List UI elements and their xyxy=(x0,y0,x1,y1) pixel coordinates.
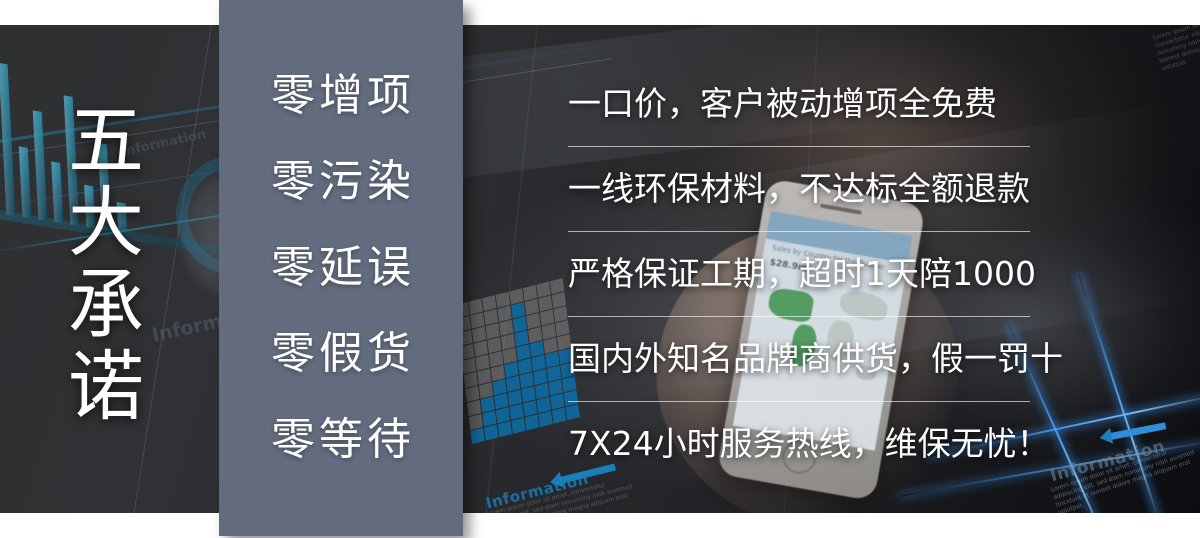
bar-6 xyxy=(51,161,63,223)
bar-3 xyxy=(0,63,15,216)
title-char-3: 承 xyxy=(68,264,160,346)
bar-5 xyxy=(33,110,48,220)
promise-text-3: 严格保证工期，超时1天陪1000 xyxy=(568,255,1036,293)
promise-row-3: 严格保证工期，超时1天陪1000 xyxy=(568,232,1038,316)
promise-text-5: 7X24小时服务热线，维保无忧！ xyxy=(568,425,1050,463)
background-waffle-chart xyxy=(455,278,581,445)
promise-list: 一口价，客户被动增项全免费 一线环保材料，不达标全额退款 严格保证工期，超时1天… xyxy=(568,62,1038,486)
promo-banner: Information Information xyxy=(0,0,1200,538)
promise-row-5: 7X24小时服务热线，维保无忧！ xyxy=(568,402,1038,486)
promise-row-1: 一口价，客户被动增项全免费 xyxy=(568,62,1038,146)
page-title-vertical: 五 大 承 诺 xyxy=(68,100,160,428)
bar-4 xyxy=(19,146,32,218)
info-paragraph-midright: Lorem ipsum dolor sit amet, consectetur … xyxy=(1152,25,1200,73)
panel-item-zero-delay: 零延误 xyxy=(267,245,415,291)
panel-item-zero-extra-charge: 零增项 xyxy=(267,73,415,119)
panel-item-zero-fake-goods: 零假货 xyxy=(267,331,415,377)
title-char-1: 五 xyxy=(68,100,160,182)
promise-text-2: 一线环保材料，不达标全额退款 xyxy=(568,170,1030,208)
panel-item-zero-pollution: 零污染 xyxy=(267,159,415,205)
panel-item-zero-waiting: 零等待 xyxy=(267,417,415,463)
promise-row-4: 国内外知名品牌商供货，假一罚十 xyxy=(568,317,1038,401)
promise-text-4: 国内外知名品牌商供货，假一罚十 xyxy=(568,340,1063,378)
promise-row-2: 一线环保材料，不达标全额退款 xyxy=(568,147,1038,231)
promise-text-1: 一口价，客户被动增项全免费 xyxy=(568,85,997,123)
title-char-4: 诺 xyxy=(68,346,160,428)
zero-promise-panel: 零增项 零污染 零延误 零假货 零等待 xyxy=(219,0,463,536)
title-char-2: 大 xyxy=(68,182,160,264)
